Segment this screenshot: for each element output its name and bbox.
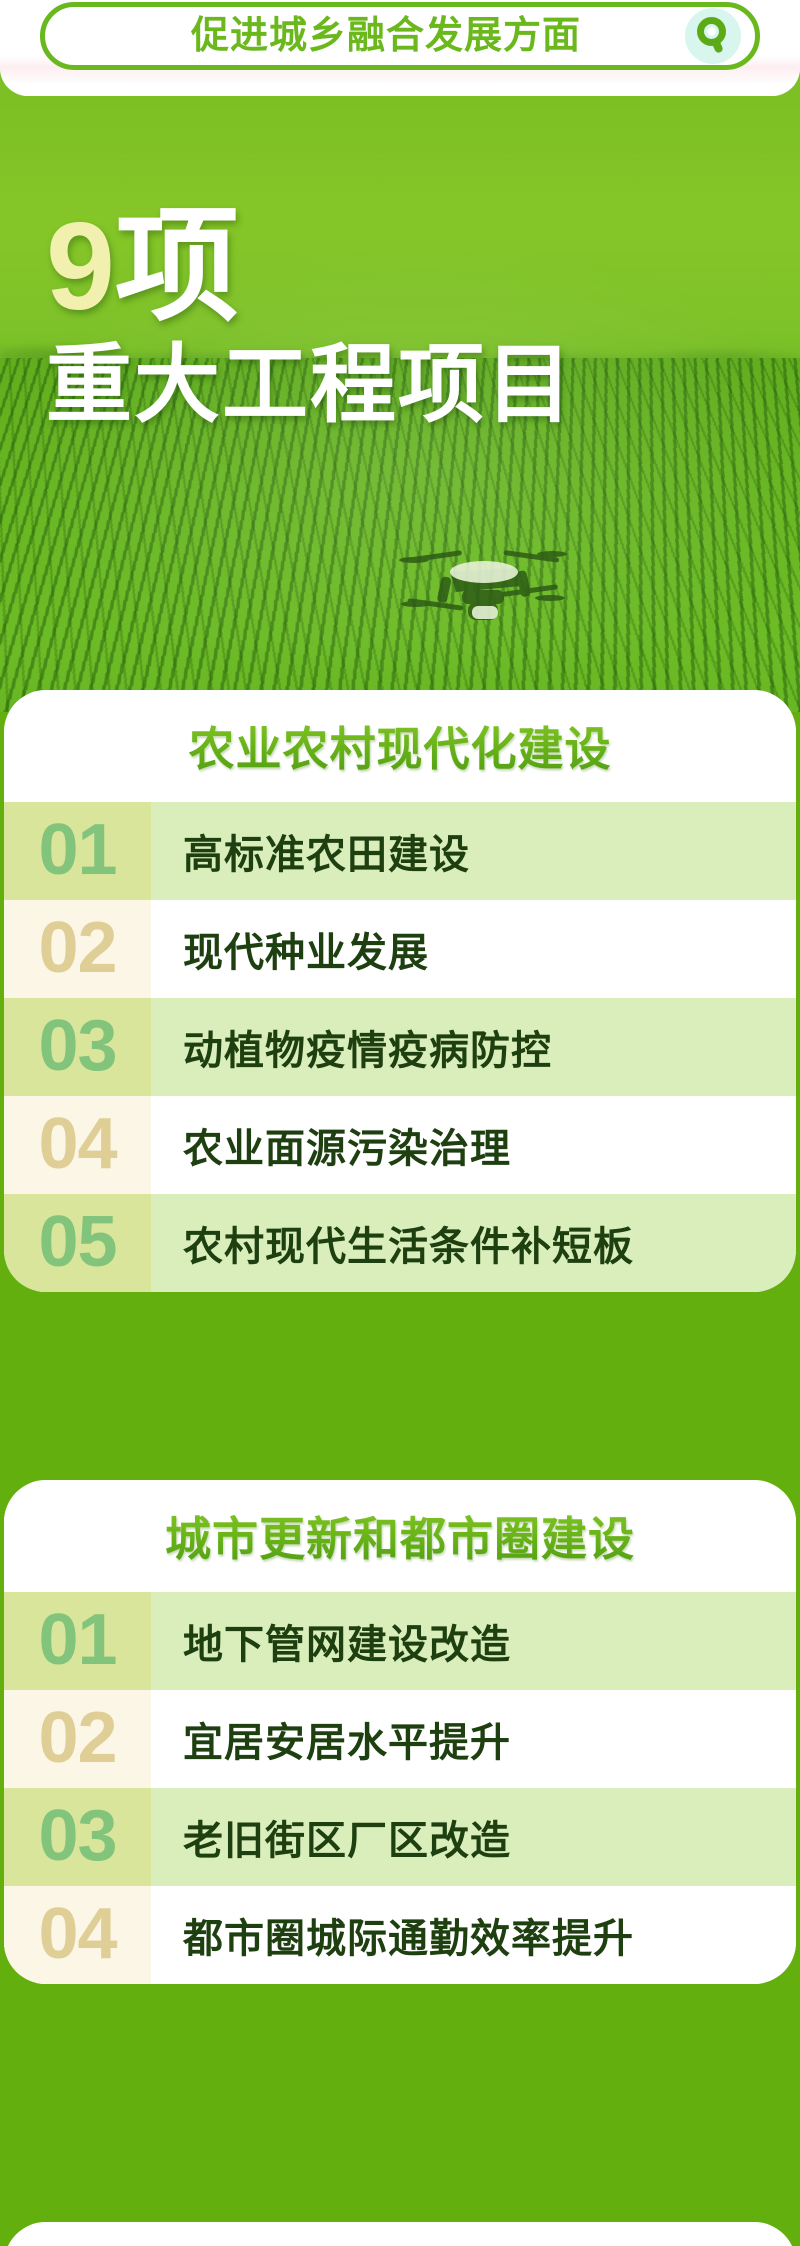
list-item[interactable]: 04 都市圈城际通勤效率提升 [4,1886,796,1984]
list-item[interactable]: 04 农业面源污染治理 [4,1096,796,1194]
search-icon[interactable] [685,8,741,64]
hero-count-unit: 项 [115,198,239,336]
item-number: 01 [4,802,151,900]
card-next-partial [4,2222,796,2246]
item-label: 动植物疫情疫病防控 [151,1018,796,1076]
item-number: 03 [4,998,151,1096]
item-label: 农业面源污染治理 [151,1116,796,1174]
card-header: 城市更新和都市圈建设 [4,1480,796,1592]
hero-headline: 9项 重大工程项目 [46,204,574,428]
card-urban: 城市更新和都市圈建设 01 地下管网建设改造 02 宜居安居水平提升 03 老旧… [4,1480,796,1984]
infographic-page: 9项 重大工程项目 促进城乡融合发展方面 农业农村现代化建设 01 高标准农田建… [0,0,800,2246]
item-label: 老旧街区厂区改造 [151,1808,796,1866]
card-header: 农业农村现代化建设 [4,690,796,802]
list-item[interactable]: 03 动植物疫情疫病防控 [4,998,796,1096]
list-item[interactable]: 03 老旧街区厂区改造 [4,1788,796,1886]
banner-title: 促进城乡融合发展方面 [45,17,685,55]
item-number: 05 [4,1194,151,1292]
item-number: 02 [4,1690,151,1788]
hero-section: 9项 重大工程项目 [0,72,800,712]
item-label: 农村现代生活条件补短板 [151,1214,796,1272]
drone-icon [398,542,568,637]
item-label: 现代种业发展 [151,920,796,978]
item-number: 04 [4,1886,151,1984]
item-label: 地下管网建设改造 [151,1612,796,1670]
card-title: 城市更新和都市圈建设 [165,1503,635,1569]
list-item[interactable]: 01 高标准农田建设 [4,802,796,900]
item-label: 高标准农田建设 [151,822,796,880]
item-number: 02 [4,900,151,998]
list-item[interactable]: 05 农村现代生活条件补短板 [4,1194,796,1292]
item-number: 01 [4,1592,151,1690]
banner-pill[interactable]: 促进城乡融合发展方面 [40,2,760,70]
card-agriculture: 农业农村现代化建设 01 高标准农田建设 02 现代种业发展 03 动植物疫情疫… [4,690,796,1292]
list-item[interactable]: 02 宜居安居水平提升 [4,1690,796,1788]
item-label: 宜居安居水平提升 [151,1710,796,1768]
list-item[interactable]: 01 地下管网建设改造 [4,1592,796,1690]
item-number: 03 [4,1788,151,1886]
hero-count: 9 [46,198,115,336]
item-label: 都市圈城际通勤效率提升 [151,1906,796,1964]
item-number: 04 [4,1096,151,1194]
hero-subtitle: 重大工程项目 [46,342,574,428]
card-header [4,2222,796,2246]
hero-count-line: 9项 [46,204,574,330]
list-item[interactable]: 02 现代种业发展 [4,900,796,998]
card-title: 农业农村现代化建设 [189,713,612,779]
